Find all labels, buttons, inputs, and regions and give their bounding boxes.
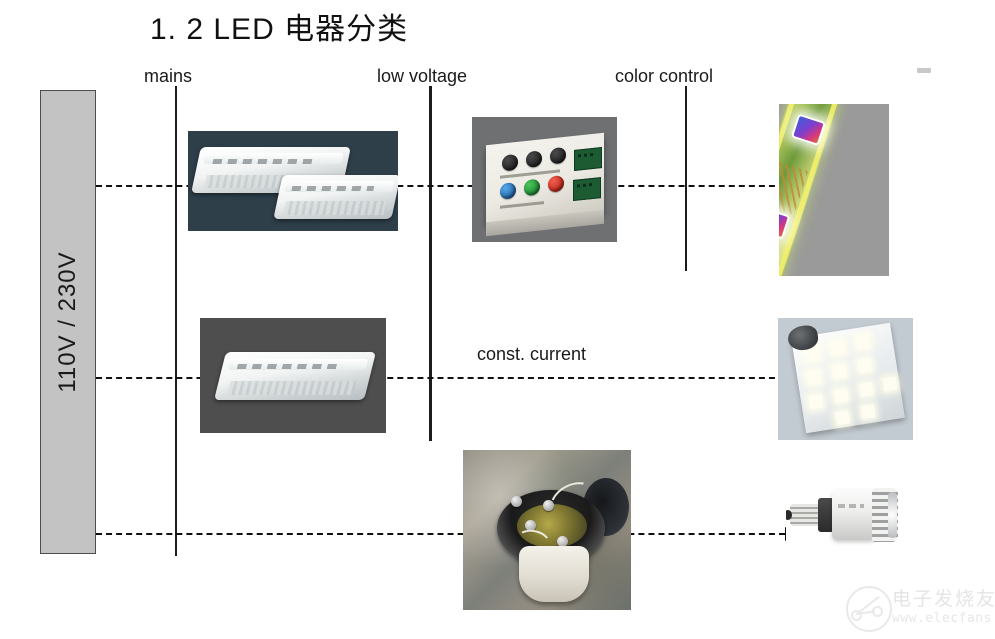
- knob-black: [502, 154, 518, 172]
- panel-led: [883, 377, 898, 392]
- dashed-line: [96, 533, 785, 535]
- voltage-source-bar: 110V / 230V: [40, 90, 96, 554]
- lamp-body: [832, 490, 876, 540]
- panel-led: [807, 370, 822, 385]
- terminal-block: [574, 147, 602, 171]
- column-label-low-voltage: low voltage: [377, 66, 467, 87]
- panel-led: [857, 358, 872, 373]
- panel-led: [834, 388, 849, 403]
- watermark-url: www.elecfans.com: [892, 611, 995, 626]
- photo-driver-pair: [188, 131, 398, 231]
- watermark-chinese: 电子发烧友: [892, 584, 995, 611]
- flow-arrow-retrofit: [96, 533, 796, 535]
- divider-line-color-control: [685, 86, 687, 271]
- photo-e14-led-lamp: [786, 478, 906, 556]
- led-driver-unit: [214, 352, 376, 400]
- driver-print: [237, 364, 343, 369]
- photo-single-driver: [200, 318, 386, 433]
- panel-led: [832, 364, 847, 379]
- knob-blue: [500, 182, 516, 200]
- terminal-block: [573, 177, 601, 201]
- driver-print: [212, 159, 318, 164]
- voltage-source-label: 110V / 230V: [54, 251, 82, 392]
- driver-ribs: [284, 201, 386, 214]
- knob-green: [524, 179, 540, 197]
- lamp-print: [838, 504, 864, 508]
- driver-print: [291, 186, 375, 191]
- divider-line-low-voltage: [429, 86, 432, 441]
- fixture-screw: [511, 496, 522, 507]
- faint-mark: [917, 68, 931, 73]
- watermark: 电子发烧友 www.elecfans.com: [846, 578, 992, 636]
- panel-led: [835, 410, 850, 425]
- panel-led: [859, 382, 874, 397]
- panel-led: [856, 334, 871, 349]
- slide-canvas: 1. 2 LED 电器分类 mains low voltage color co…: [0, 0, 995, 639]
- controller-housing: [486, 133, 604, 223]
- photo-rgb-led-strip: [779, 104, 889, 276]
- knob-black: [550, 147, 566, 165]
- annotation-const-current: const. current: [477, 344, 586, 365]
- panel-led: [830, 340, 845, 355]
- led-driver-unit: [273, 175, 398, 219]
- controller-print: [500, 201, 544, 209]
- driver-ribs: [227, 381, 357, 395]
- divider-line-mains: [175, 86, 177, 556]
- flexible-strip: [779, 104, 840, 276]
- photo-color-controller: [472, 117, 617, 242]
- lamp-led-head: [872, 488, 898, 542]
- page-title: 1. 2 LED 电器分类: [150, 4, 408, 48]
- panel-led: [861, 404, 876, 419]
- fixture-base: [519, 546, 589, 602]
- elecfans-logo-icon: [846, 586, 892, 632]
- photo-led-panel-module: [778, 318, 913, 440]
- lamp-screw-base: [790, 504, 820, 526]
- knob-red: [548, 175, 564, 193]
- column-label-mains: mains: [144, 66, 192, 87]
- panel-led: [808, 394, 823, 409]
- column-label-color-control: color control: [615, 66, 713, 87]
- photo-inground-fixture: [463, 450, 631, 610]
- knob-black: [526, 150, 542, 168]
